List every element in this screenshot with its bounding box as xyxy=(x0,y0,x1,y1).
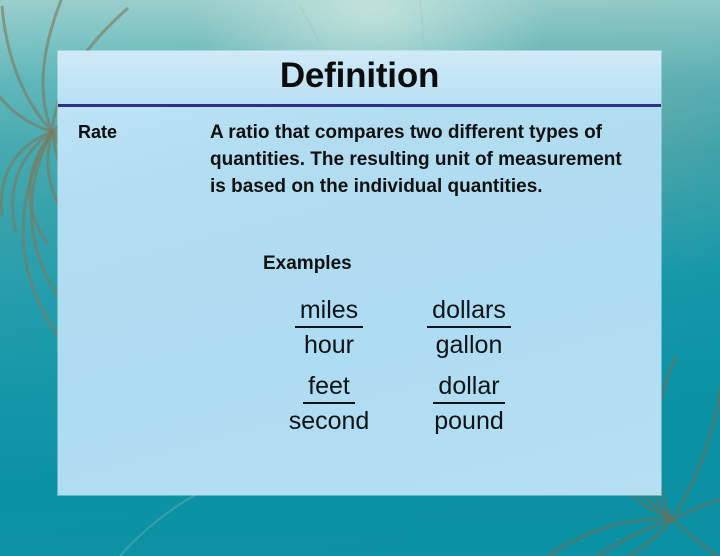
fraction-numerator: dollars xyxy=(427,295,511,328)
fraction-numerator: miles xyxy=(295,295,363,328)
fraction-example: dollar pound xyxy=(410,371,528,437)
fraction-denominator: gallon xyxy=(410,330,528,361)
examples-heading: Examples xyxy=(263,253,352,275)
definition-text: A ratio that compares two different type… xyxy=(210,119,630,200)
fraction-numerator: feet xyxy=(303,371,355,404)
slide-canvas: Definition Rate A ratio that compares tw… xyxy=(0,0,720,556)
fraction-example: feet second xyxy=(270,371,388,437)
examples-list: miles hour dollars gallon feet second do… xyxy=(270,295,560,447)
card-header: Definition xyxy=(58,51,661,104)
examples-row: feet second dollar pound xyxy=(270,371,560,437)
page-title: Definition xyxy=(58,54,661,98)
fraction-numerator: dollar xyxy=(433,371,504,404)
definition-card: Definition Rate A ratio that compares tw… xyxy=(58,51,661,495)
fraction-denominator: second xyxy=(270,406,388,437)
card-body: Rate A ratio that compares two different… xyxy=(58,107,661,495)
fraction-denominator: hour xyxy=(270,330,388,361)
fraction-example: dollars gallon xyxy=(410,295,528,361)
term-label: Rate xyxy=(78,122,117,143)
fraction-example: miles hour xyxy=(270,295,388,361)
examples-row: miles hour dollars gallon xyxy=(270,295,560,361)
fraction-denominator: pound xyxy=(410,406,528,437)
